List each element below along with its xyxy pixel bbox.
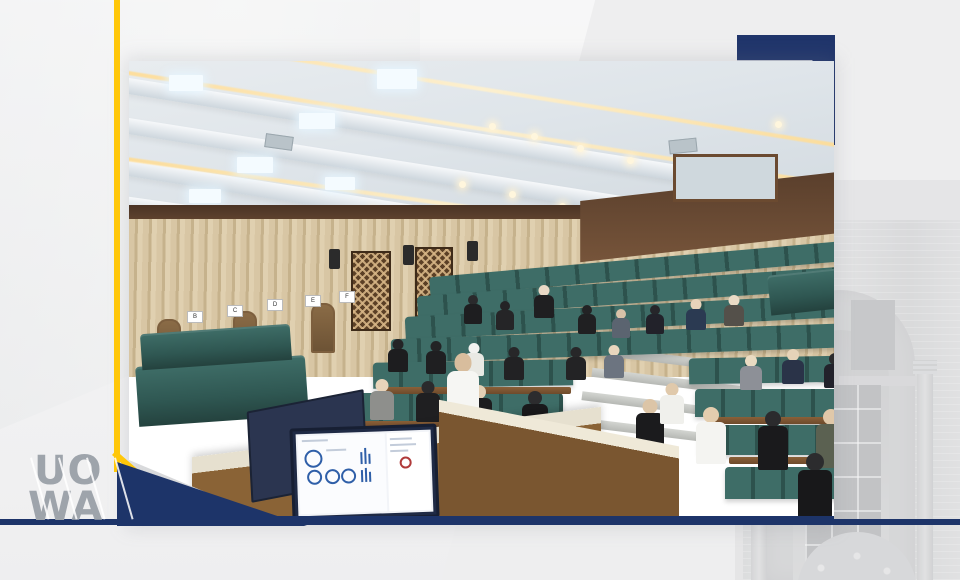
watermark-column-right [917, 370, 933, 580]
seat-row-placard: B [187, 311, 203, 323]
seated-person [495, 301, 515, 329]
seat-row-placard: F [339, 291, 355, 303]
seated-person [695, 407, 727, 463]
seated-person [797, 453, 833, 519]
watermark-upper-window [851, 300, 895, 370]
ceiling-downlight [489, 123, 496, 130]
seated-person [533, 285, 555, 317]
seated-person [603, 345, 625, 377]
seated-person [387, 339, 409, 371]
seated-person [463, 295, 483, 323]
presentation-slide [296, 430, 434, 517]
seated-person [611, 309, 631, 337]
seat-row-placard: C [227, 305, 243, 317]
wall-arch-niche [311, 303, 335, 353]
seated-person [503, 347, 525, 379]
slide-side-panel [387, 432, 431, 512]
ceiling-downlight [775, 121, 782, 128]
seated-person [739, 355, 763, 389]
lecture-hall-photo: B C D E F [129, 61, 834, 525]
ceiling-downlight [459, 181, 466, 188]
wall-speaker [403, 245, 414, 265]
ceiling-panel-light [325, 177, 355, 190]
ceiling-downlight [531, 133, 538, 140]
ceiling-vent [668, 138, 697, 155]
seated-person [685, 299, 707, 329]
wall-speaker [329, 249, 340, 269]
seated-person [577, 305, 597, 333]
seated-person [823, 353, 834, 387]
uowa-logo[interactable]: UO WA [28, 452, 124, 530]
ceiling-panel-light [169, 75, 203, 91]
ceiling-panel-light [377, 69, 417, 89]
seat-row-placard: E [305, 295, 321, 307]
banner-canvas: B C D E F [0, 0, 960, 580]
seated-person [565, 347, 587, 379]
presentation-monitor [290, 424, 440, 523]
seated-person [723, 295, 745, 325]
wall-speaker [467, 241, 478, 261]
ceiling-downlight [627, 157, 634, 164]
ceiling-panel-light [299, 113, 335, 129]
wall-mashrabiya-panel [351, 251, 391, 331]
seated-person [659, 383, 685, 423]
seated-person [425, 341, 447, 373]
seated-person [369, 379, 395, 419]
watermark-capital-right [913, 360, 937, 374]
ceiling-downlight [509, 191, 516, 198]
wall-display-screen [673, 154, 778, 202]
seated-person [757, 411, 789, 469]
ceiling-panel-light [237, 157, 273, 173]
logo-line-two: WA [28, 488, 103, 527]
seated-person [781, 349, 805, 383]
slide-main-panel [298, 433, 388, 514]
photo-scene: B C D E F [129, 61, 834, 525]
side-seat-block [767, 266, 834, 315]
navy-bottom-bar [0, 519, 960, 525]
seated-person [645, 305, 665, 333]
seat-row-placard: D [267, 299, 283, 311]
seated-person [415, 381, 441, 421]
ceiling-panel-light [189, 189, 221, 203]
ceiling-downlight [577, 145, 584, 152]
